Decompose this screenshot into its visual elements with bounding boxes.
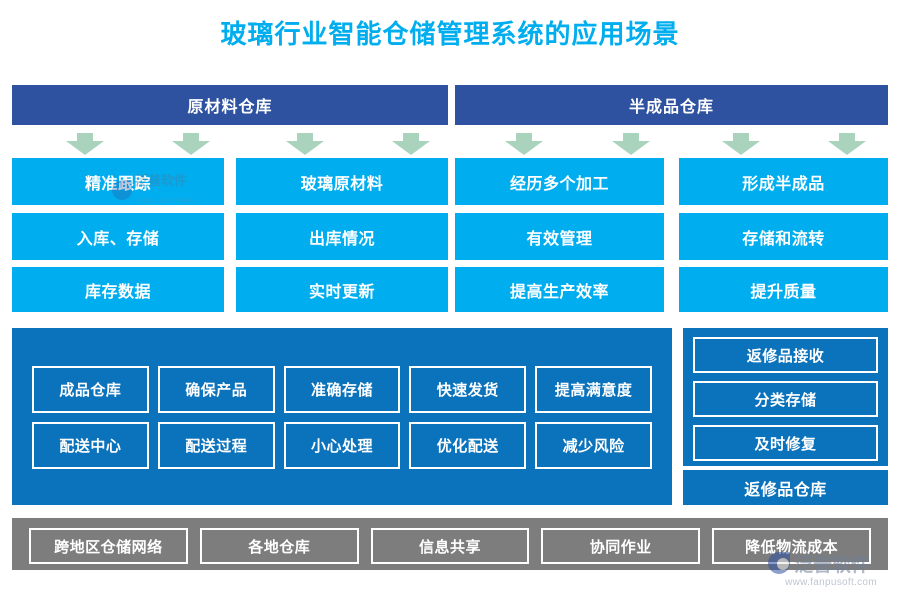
- arrow-down-icon-2: [172, 133, 210, 155]
- finished-box-r2c4-label: 优化配送: [437, 435, 499, 456]
- arrow-down-icon-7: [722, 133, 760, 155]
- bottom-box-4-label: 协同作业: [590, 536, 652, 557]
- cyan-box-r1c1[interactable]: 精准跟踪: [12, 158, 224, 205]
- cyan-box-r3c3[interactable]: 提高生产效率: [455, 267, 664, 312]
- cyan-box-r3c1[interactable]: 库存数据: [12, 267, 224, 312]
- cyan-box-r2c4[interactable]: 存储和流转: [679, 213, 888, 260]
- bottom-box-5[interactable]: 降低物流成本: [712, 528, 871, 564]
- finished-box-r1c1[interactable]: 成品仓库: [32, 366, 149, 413]
- finished-box-r2c5[interactable]: 减少风险: [535, 422, 652, 469]
- finished-box-r2c4[interactable]: 优化配送: [409, 422, 526, 469]
- finished-box-r1c3[interactable]: 准确存储: [284, 366, 401, 413]
- arrow-down-icon-8: [828, 133, 866, 155]
- bottom-box-3[interactable]: 信息共享: [371, 528, 530, 564]
- bottom-box-2[interactable]: 各地仓库: [200, 528, 359, 564]
- finished-box-r2c2[interactable]: 配送过程: [158, 422, 275, 469]
- bottom-box-4[interactable]: 协同作业: [541, 528, 700, 564]
- section-header-raw-material-label: 原材料仓库: [187, 93, 272, 117]
- cyan-box-r2c3-label: 有效管理: [526, 225, 592, 249]
- arrow-down-icon-5: [505, 133, 543, 155]
- arrow-down-icon-4: [392, 133, 430, 155]
- bottom-box-2-label: 各地仓库: [248, 536, 310, 557]
- cyan-box-r3c4[interactable]: 提升质量: [679, 267, 888, 312]
- repair-box-3[interactable]: 及时修复: [693, 425, 878, 461]
- cyan-box-r2c2-label: 出库情况: [309, 225, 375, 249]
- finished-goods-row-2: 配送中心 配送过程 小心处理 优化配送 减少风险: [32, 422, 652, 469]
- repair-warehouse-bar-label: 返修品仓库: [744, 476, 827, 500]
- finished-box-r1c5[interactable]: 提高满意度: [535, 366, 652, 413]
- bottom-box-5-label: 降低物流成本: [745, 536, 838, 557]
- bottom-box-1-label: 跨地区仓储网络: [54, 536, 163, 557]
- bottom-box-1[interactable]: 跨地区仓储网络: [29, 528, 188, 564]
- cyan-box-r1c3[interactable]: 经历多个加工: [455, 158, 664, 205]
- finished-box-r1c5-label: 提高满意度: [555, 379, 633, 400]
- cyan-box-r2c3[interactable]: 有效管理: [455, 213, 664, 260]
- repair-goods-panel: 返修品接收 分类存储 及时修复: [683, 328, 888, 466]
- finished-box-r2c2-label: 配送过程: [185, 435, 247, 456]
- finished-box-r1c1-label: 成品仓库: [59, 379, 121, 400]
- page-title: 玻璃行业智能仓储管理系统的应用场景: [0, 17, 900, 51]
- arrow-down-icon-1: [66, 133, 104, 155]
- finished-box-r1c4[interactable]: 快速发货: [409, 366, 526, 413]
- finished-box-r2c1-label: 配送中心: [59, 435, 121, 456]
- repair-box-2-label: 分类存储: [754, 389, 816, 410]
- finished-box-r1c4-label: 快速发货: [437, 379, 499, 400]
- cyan-box-r1c2[interactable]: 玻璃原材料: [236, 158, 448, 205]
- cyan-box-r3c3-label: 提高生产效率: [510, 278, 609, 302]
- cyan-box-r2c4-label: 存储和流转: [742, 225, 825, 249]
- repair-box-3-label: 及时修复: [754, 433, 816, 454]
- repair-box-1[interactable]: 返修品接收: [693, 337, 878, 373]
- cyan-box-r3c2[interactable]: 实时更新: [236, 267, 448, 312]
- cyan-box-r1c4[interactable]: 形成半成品: [679, 158, 888, 205]
- cyan-box-r2c1[interactable]: 入库、存储: [12, 213, 224, 260]
- finished-box-r1c2[interactable]: 确保产品: [158, 366, 275, 413]
- cyan-box-r2c1-label: 入库、存储: [77, 225, 160, 249]
- arrow-down-icon-3: [286, 133, 324, 155]
- finished-box-r2c3[interactable]: 小心处理: [284, 422, 401, 469]
- bottom-network-bar: 跨地区仓储网络 各地仓库 信息共享 协同作业 降低物流成本: [12, 518, 888, 570]
- finished-box-r1c2-label: 确保产品: [185, 379, 247, 400]
- cyan-box-r1c2-label: 玻璃原材料: [301, 170, 384, 194]
- cyan-box-r1c4-label: 形成半成品: [742, 170, 825, 194]
- finished-goods-grid: 成品仓库 确保产品 准确存储 快速发货 提高满意度 配送中心 配送过程 小心处理…: [32, 366, 652, 469]
- repair-goods-list: 返修品接收 分类存储 及时修复: [693, 337, 878, 461]
- section-header-semi-finished-label: 半成品仓库: [629, 93, 714, 117]
- repair-box-2[interactable]: 分类存储: [693, 381, 878, 417]
- bottom-box-3-label: 信息共享: [419, 536, 481, 557]
- cyan-box-r2c2[interactable]: 出库情况: [236, 213, 448, 260]
- cyan-box-r3c4-label: 提升质量: [750, 278, 816, 302]
- cyan-box-r3c2-label: 实时更新: [309, 278, 375, 302]
- bottom-network-items: 跨地区仓储网络 各地仓库 信息共享 协同作业 降低物流成本: [29, 528, 871, 564]
- arrow-down-icon-6: [612, 133, 650, 155]
- finished-goods-row-1: 成品仓库 确保产品 准确存储 快速发货 提高满意度: [32, 366, 652, 413]
- watermark-logo-url: www.fanpusoft.com: [768, 577, 894, 588]
- section-header-raw-material: 原材料仓库: [12, 85, 448, 125]
- cyan-box-r1c3-label: 经历多个加工: [510, 170, 609, 194]
- repair-warehouse-bar: 返修品仓库: [683, 470, 888, 505]
- repair-box-1-label: 返修品接收: [747, 345, 825, 366]
- finished-box-r2c5-label: 减少风险: [563, 435, 625, 456]
- finished-goods-panel: 成品仓库 确保产品 准确存储 快速发货 提高满意度 配送中心 配送过程 小心处理…: [12, 328, 672, 505]
- section-header-semi-finished: 半成品仓库: [455, 85, 888, 125]
- finished-box-r2c3-label: 小心处理: [311, 435, 373, 456]
- finished-box-r1c3-label: 准确存储: [311, 379, 373, 400]
- cyan-box-r3c1-label: 库存数据: [85, 278, 151, 302]
- cyan-box-r1c1-label: 精准跟踪: [85, 170, 151, 194]
- finished-box-r2c1[interactable]: 配送中心: [32, 422, 149, 469]
